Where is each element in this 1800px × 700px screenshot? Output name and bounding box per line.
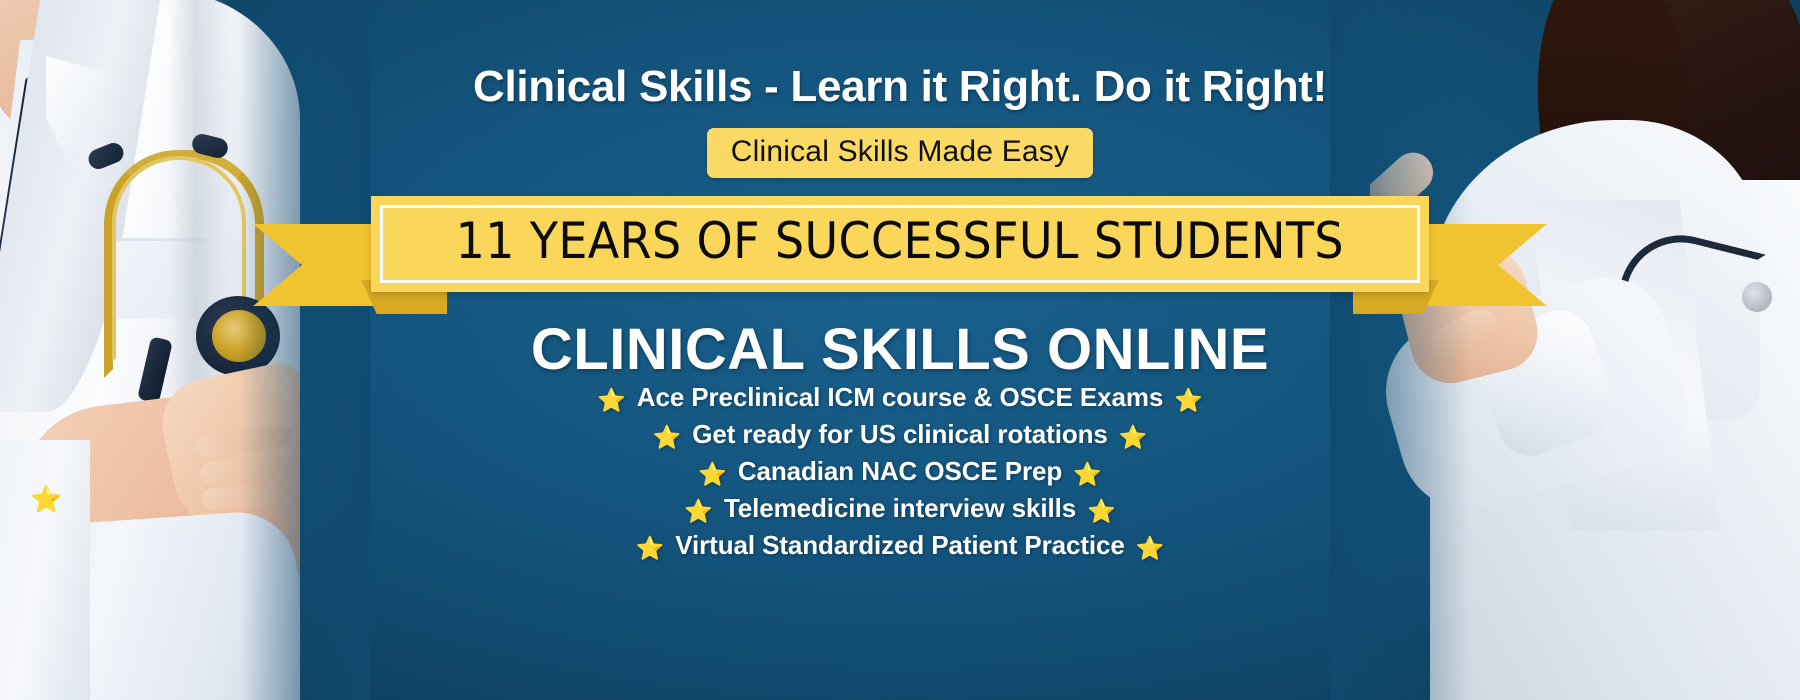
banner-content: Clinical Skills - Learn it Right. Do it … bbox=[0, 0, 1800, 700]
list-item: ⭐Ace Preclinical ICM course & OSCE Exams… bbox=[0, 382, 1800, 414]
years-ribbon: 11 YEARS OF SUCCESSFUL STUDENTS bbox=[371, 196, 1429, 292]
tagline-badge: Clinical Skills Made Easy bbox=[707, 128, 1093, 178]
ribbon-tail-left bbox=[253, 224, 381, 306]
star-icon: ⭐ bbox=[1119, 424, 1148, 450]
list-item: ⭐Telemedicine interview skills⭐ bbox=[0, 493, 1800, 525]
list-item: ⭐Virtual Standardized Patient Practice⭐ bbox=[0, 530, 1800, 562]
star-icon: ⭐ bbox=[636, 535, 665, 561]
list-item-label: Virtual Standardized Patient Practice bbox=[675, 530, 1125, 560]
list-item-label: Get ready for US clinical rotations bbox=[692, 419, 1108, 449]
ribbon-tail-right bbox=[1419, 224, 1547, 306]
ribbon-body: 11 YEARS OF SUCCESSFUL STUDENTS bbox=[371, 196, 1429, 292]
list-item-label: Telemedicine interview skills bbox=[724, 493, 1076, 523]
promo-banner: ⭐ Clinical Skills - Learn it Right. Do i… bbox=[0, 0, 1800, 700]
list-item-label: Canadian NAC OSCE Prep bbox=[738, 456, 1062, 486]
tagline-badge-wrap: Clinical Skills Made Easy bbox=[0, 128, 1800, 178]
star-icon: ⭐ bbox=[1087, 498, 1116, 524]
ribbon-inner-border: 11 YEARS OF SUCCESSFUL STUDENTS bbox=[380, 205, 1420, 283]
feature-list: ⭐Ace Preclinical ICM course & OSCE Exams… bbox=[0, 382, 1800, 567]
star-icon: ⭐ bbox=[698, 461, 727, 487]
star-icon: ⭐ bbox=[1073, 461, 1102, 487]
list-item: ⭐Canadian NAC OSCE Prep⭐ bbox=[0, 456, 1800, 488]
star-icon: ⭐ bbox=[684, 498, 713, 524]
list-item-label: Ace Preclinical ICM course & OSCE Exams bbox=[637, 382, 1163, 412]
banner-headline: Clinical Skills - Learn it Right. Do it … bbox=[0, 62, 1800, 112]
page-title: CLINICAL SKILLS ONLINE bbox=[0, 316, 1800, 383]
star-icon: ⭐ bbox=[653, 424, 682, 450]
star-icon: ⭐ bbox=[597, 387, 626, 413]
list-item: ⭐Get ready for US clinical rotations⭐ bbox=[0, 419, 1800, 451]
ribbon-wrap: 11 YEARS OF SUCCESSFUL STUDENTS bbox=[0, 196, 1800, 316]
star-icon: ⭐ bbox=[1136, 535, 1165, 561]
ribbon-text: 11 YEARS OF SUCCESSFUL STUDENTS bbox=[456, 212, 1344, 270]
star-icon: ⭐ bbox=[1174, 387, 1203, 413]
